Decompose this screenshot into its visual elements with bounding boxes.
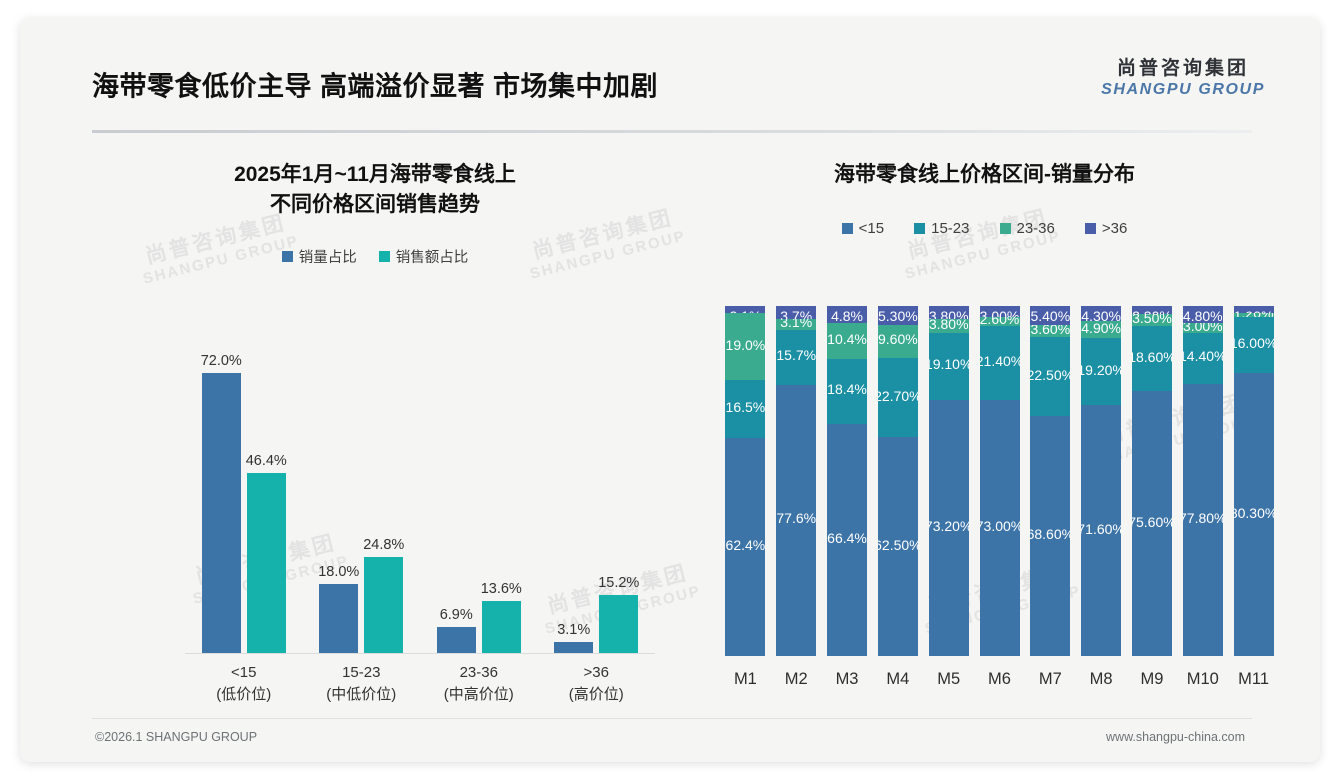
stack-segment-label: 19.10% [929, 356, 969, 372]
bar-group: 72.0%46.4% [185, 342, 303, 654]
bar-value-label: 24.8% [363, 537, 404, 553]
bar-value-label: 72.0% [201, 353, 242, 369]
legend-item-price-band-3[interactable]: >36 [1085, 220, 1127, 237]
stack-segment-label: 10.4% [827, 331, 867, 347]
slide-canvas: 尚普咨询集团 SHANGPU GROUP 尚普咨询集团 SHANGPU GROU… [20, 18, 1320, 762]
stack-segment-15[interactable]: 75.60% [1132, 391, 1172, 656]
stack-segment-label: 4.80% [1183, 308, 1223, 323]
category-label-tier: (低价位) [185, 684, 303, 706]
stack-segment-label: 77.6% [776, 510, 816, 526]
left-chart-panel: 2025年1月~11月海带零食线上 不同价格区间销售趋势 销量占比销售额占比 7… [65, 146, 685, 706]
stack-segment-15-23[interactable]: 22.50% [1030, 337, 1070, 416]
bar-sales[interactable]: 46.4% [247, 473, 286, 654]
stack-segment-label: 19.20% [1081, 362, 1121, 378]
stacked-bar[interactable]: 4.30%4.90%19.20%71.60% [1081, 306, 1121, 656]
stack-segment-label: 14.40% [1183, 348, 1223, 364]
bar-value-label: 13.6% [481, 581, 522, 597]
stack-segment-label: 66.4% [827, 530, 867, 546]
stack-segment-36[interactable]: 4.30% [1081, 306, 1121, 321]
month-label: M3 [822, 670, 872, 689]
stack-segment-label: 77.80% [1183, 510, 1223, 526]
bar-value-label: 15.2% [598, 575, 639, 591]
stacked-bar[interactable]: 5.40%3.60%22.50%68.60% [1030, 306, 1070, 656]
stack-segment-label: 3.80% [929, 308, 969, 319]
left-chart-title-line2: 不同价格区间销售趋势 [65, 190, 685, 220]
stack-segment-15[interactable]: 62.50% [878, 437, 918, 656]
stack-segment-23-36[interactable]: 3.00% [1183, 323, 1223, 334]
bar-fill [319, 584, 358, 654]
legend-swatch-icon [282, 251, 293, 262]
month-label: M1 [720, 670, 770, 689]
legend-item-price-band-1[interactable]: 15-23 [914, 220, 969, 237]
stack-segment-label: 16.00% [1234, 335, 1274, 351]
stack-segment-36[interactable]: 3.80% [929, 306, 969, 319]
footer-copyright: ©2026.1 SHANGPU GROUP [95, 730, 257, 744]
left-chart-title: 2025年1月~11月海带零食线上 不同价格区间销售趋势 [65, 160, 685, 220]
stack-segment-23-36[interactable]: 4.90% [1081, 321, 1121, 338]
right-chart-panel: 海带零食线上价格区间-销量分布 <1515-2323-36>36 2.1%19.… [692, 146, 1277, 706]
stack-segment-label: 68.60% [1030, 526, 1070, 542]
stack-segment-15-23[interactable]: 14.40% [1183, 333, 1223, 383]
category-label-range: >36 [538, 662, 656, 684]
stack-segment-label: 62.4% [726, 537, 766, 553]
bar-sales[interactable]: 24.8% [364, 557, 403, 654]
legend-label: 销量占比 [299, 246, 357, 267]
stack-segment-label: 5.30% [878, 308, 918, 324]
bar-group: 6.9%13.6% [420, 342, 538, 654]
stacked-bar[interactable]: 2.30%3.50%18.60%75.60% [1132, 306, 1172, 656]
month-label: M10 [1178, 670, 1228, 689]
stacked-bar[interactable]: 3.80%3.80%19.10%73.20% [929, 306, 969, 656]
stack-segment-label: 62.50% [878, 537, 918, 553]
stack-segment-label: 3.7% [780, 308, 812, 319]
stack-segment-36[interactable]: 4.80% [1183, 306, 1223, 323]
stack-segment-label: 73.20% [929, 518, 969, 534]
legend-swatch-icon [1085, 223, 1096, 234]
bar-sales[interactable]: 13.6% [482, 601, 521, 654]
stack-segment-label: 4.8% [831, 308, 863, 323]
stack-segment-15[interactable]: 77.80% [1183, 384, 1223, 656]
stack-segment-15-23[interactable]: 19.10% [929, 333, 969, 400]
stack-segment-label: 18.60% [1132, 349, 1172, 365]
category-label: >36(高价位) [538, 662, 656, 706]
stacked-bar[interactable]: 3.00%2.60%21.40%73.00% [980, 306, 1020, 656]
legend-label: 15-23 [931, 220, 969, 237]
legend-item-price-band-2[interactable]: 23-36 [1000, 220, 1055, 237]
bar-fill [364, 557, 403, 654]
stack-segment-23-36[interactable]: 10.4% [827, 323, 867, 359]
stack-segment-36[interactable]: 3.7% [776, 306, 816, 319]
stack-segment-15[interactable]: 71.60% [1081, 405, 1121, 656]
legend-swatch-icon [914, 223, 925, 234]
footer-website[interactable]: www.shangpu-china.com [1106, 730, 1245, 744]
stack-segment-36[interactable]: 4.8% [827, 306, 867, 323]
stack-segment-label: 18.4% [827, 381, 867, 397]
stack-segment-23-36[interactable]: 3.1% [776, 319, 816, 330]
bar-value-label: 3.1% [557, 622, 590, 638]
stacked-bar-category-labels: M1M2M3M4M5M6M7M8M9M10M11 [720, 670, 1269, 700]
x-axis-line [185, 653, 655, 654]
stack-segment-15-23[interactable]: 22.70% [878, 358, 918, 437]
stack-segment-label: 71.60% [1081, 521, 1121, 537]
legend-swatch-icon [379, 251, 390, 262]
stack-segment-15-23[interactable]: 18.60% [1132, 326, 1172, 391]
stacked-bar-chart: 2.1%19.0%16.5%62.4%3.7%3.1%15.7%77.6%4.8… [702, 306, 1267, 656]
stacked-bar[interactable]: 4.8%10.4%18.4%66.4% [827, 306, 867, 656]
stack-segment-23-36[interactable]: 3.80% [929, 319, 969, 332]
category-label-range: 23-36 [420, 662, 538, 684]
stack-segment-36[interactable]: 1.90% [1234, 306, 1274, 313]
category-label-tier: (高价位) [538, 684, 656, 706]
stacked-bar[interactable]: 2.1%19.0%16.5%62.4% [725, 306, 765, 656]
bar-sales[interactable]: 15.2% [599, 595, 638, 654]
legend-swatch-icon [842, 223, 853, 234]
bar-value-label: 18.0% [318, 564, 359, 580]
stack-segment-15-23[interactable]: 19.20% [1081, 338, 1121, 405]
bar-volume[interactable]: 72.0% [202, 373, 241, 654]
stack-segment-23-36[interactable]: 2.60% [980, 317, 1020, 326]
page-title: 海带零食低价主导 高端溢价显著 市场集中加剧 [92, 65, 658, 104]
stack-segment-label: 19.0% [726, 337, 766, 353]
left-chart-legend: 销量占比销售额占比 [65, 246, 685, 267]
legend-label: 23-36 [1017, 220, 1055, 237]
stack-segment-label: 3.80% [929, 319, 969, 332]
stack-segment-label: 22.50% [1030, 367, 1070, 383]
logo-text-cn: 尚普咨询集团 [1101, 58, 1265, 80]
stack-segment-label: 73.00% [980, 518, 1020, 534]
stack-segment-36[interactable]: 5.30% [878, 306, 918, 325]
bar-value-label: 6.9% [440, 607, 473, 623]
stack-segment-label: 3.00% [980, 308, 1020, 317]
legend-item-volume-sales-1[interactable]: 销售额占比 [379, 246, 469, 267]
stack-segment-label: 2.60% [980, 317, 1020, 326]
bar-fill [247, 473, 286, 654]
stack-segment-label: 3.50% [1132, 314, 1172, 326]
legend-label: >36 [1102, 220, 1127, 237]
stack-segment-36[interactable]: 2.1% [725, 306, 765, 313]
stack-segment-23-36[interactable]: 19.0% [725, 313, 765, 380]
stack-segment-15[interactable]: 73.00% [980, 400, 1020, 656]
stack-segment-15-23[interactable]: 16.5% [725, 380, 765, 438]
stack-segment-label: 4.90% [1081, 321, 1121, 336]
grouped-bar-category-labels: <15(低价位)15-23(中低价位)23-36(中高价位)>36(高价位) [185, 662, 655, 718]
stack-segment-15[interactable]: 73.20% [929, 400, 969, 656]
stack-segment-label: 16.5% [726, 399, 766, 415]
stacked-bar[interactable]: 3.7%3.1%15.7%77.6% [776, 306, 816, 656]
bar-fill [482, 601, 521, 654]
stack-segment-label: 3.1% [780, 319, 812, 330]
legend-swatch-icon [1000, 223, 1011, 234]
bar-fill [437, 627, 476, 654]
category-label-range: <15 [185, 662, 303, 684]
stack-segment-36[interactable]: 5.40% [1030, 306, 1070, 325]
stack-segment-label: 80.30% [1234, 505, 1274, 521]
stack-segment-15-23[interactable]: 18.4% [827, 359, 867, 423]
stack-segment-label: 4.30% [1081, 308, 1121, 321]
stack-segment-15-23[interactable]: 15.7% [776, 330, 816, 385]
footer-divider [92, 718, 1252, 719]
bar-volume[interactable]: 6.9% [437, 627, 476, 654]
right-chart-legend: <1515-2323-36>36 [692, 220, 1277, 237]
brand-logo: 尚普咨询集团 SHANGPU GROUP [1101, 58, 1265, 99]
stack-segment-label: 15.7% [776, 347, 816, 363]
legend-item-price-band-0[interactable]: <15 [842, 220, 884, 237]
month-label: M7 [1025, 670, 1075, 689]
stack-segment-36[interactable]: 3.00% [980, 306, 1020, 317]
grouped-bar-plot-area: 72.0%46.4%18.0%24.8%6.9%13.6%3.1%15.2% [185, 342, 655, 654]
stack-segment-23-36[interactable]: 3.50% [1132, 314, 1172, 326]
legend-item-volume-sales-0[interactable]: 销量占比 [282, 246, 357, 267]
right-chart-title: 海带零食线上价格区间-销量分布 [692, 160, 1277, 190]
category-label: 15-23(中低价位) [303, 662, 421, 706]
bar-group: 3.1%15.2% [538, 342, 656, 654]
category-label-range: 15-23 [303, 662, 421, 684]
category-label-tier: (中低价位) [303, 684, 421, 706]
header-divider [92, 130, 1252, 133]
month-label: M11 [1229, 670, 1279, 689]
stacked-bar[interactable]: 1.90%1.20%16.00%80.30% [1234, 306, 1274, 656]
stack-segment-label: 22.70% [878, 388, 918, 404]
month-label: M2 [771, 670, 821, 689]
bar-volume[interactable]: 18.0% [319, 584, 358, 654]
stack-segment-15-23[interactable]: 21.40% [980, 326, 1020, 401]
stacked-bar-plot-area: 2.1%19.0%16.5%62.4%3.7%3.1%15.7%77.6%4.8… [720, 306, 1259, 656]
stacked-bar[interactable]: 5.30%9.60%22.70%62.50% [878, 306, 918, 656]
stack-segment-label: 3.60% [1030, 325, 1070, 337]
category-label: <15(低价位) [185, 662, 303, 706]
bar-fill [599, 595, 638, 654]
category-label: 23-36(中高价位) [420, 662, 538, 706]
stacked-bar[interactable]: 4.80%3.00%14.40%77.80% [1183, 306, 1223, 656]
month-label: M6 [975, 670, 1025, 689]
stack-segment-15[interactable]: 62.4% [725, 438, 765, 656]
month-label: M9 [1127, 670, 1177, 689]
legend-label: <15 [859, 220, 884, 237]
stack-segment-label: 9.60% [878, 331, 918, 347]
category-label-tier: (中高价位) [420, 684, 538, 706]
stack-segment-15[interactable]: 66.4% [827, 424, 867, 656]
bar-value-label: 46.4% [246, 453, 287, 469]
stack-segment-36[interactable]: 2.30% [1132, 306, 1172, 314]
bar-fill [202, 373, 241, 654]
stack-segment-label: 5.40% [1030, 308, 1070, 324]
month-label: M5 [924, 670, 974, 689]
stack-segment-15[interactable]: 68.60% [1030, 416, 1070, 656]
slide-header: 海带零食低价主导 高端溢价显著 市场集中加剧 尚普咨询集团 SHANGPU GR… [20, 18, 1320, 118]
stack-segment-23-36[interactable]: 9.60% [878, 325, 918, 359]
left-chart-title-line1: 2025年1月~11月海带零食线上 [65, 160, 685, 190]
legend-label: 销售额占比 [396, 246, 469, 267]
month-label: M4 [873, 670, 923, 689]
stack-segment-23-36[interactable]: 3.60% [1030, 325, 1070, 338]
stack-segment-label: 3.00% [1183, 323, 1223, 334]
logo-text-en: SHANGPU GROUP [1101, 80, 1265, 99]
grouped-bar-chart: 72.0%46.4%18.0%24.8%6.9%13.6%3.1%15.2% [65, 342, 685, 654]
stack-segment-15-23[interactable]: 16.00% [1234, 317, 1274, 373]
stack-segment-15[interactable]: 77.6% [776, 385, 816, 656]
stack-segment-label: 21.40% [980, 353, 1020, 369]
stack-segment-15[interactable]: 80.30% [1234, 373, 1274, 656]
stack-segment-label: 75.60% [1132, 514, 1172, 530]
month-label: M8 [1076, 670, 1126, 689]
bar-group: 18.0%24.8% [303, 342, 421, 654]
